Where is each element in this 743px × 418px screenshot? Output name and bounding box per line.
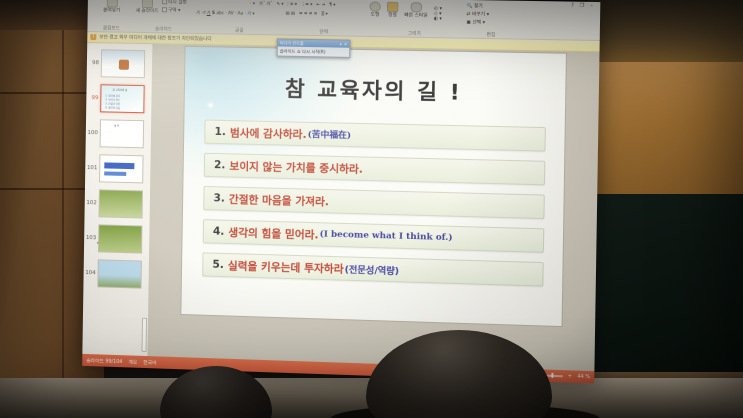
select-command[interactable]: ▣ 선택 ▾ — [466, 19, 516, 26]
wooden-cabinet — [596, 62, 743, 194]
bullet-text: 보이지 않는 가치를 중시하라. — [229, 158, 363, 176]
lecture-room-scene: 붙여넣기 클립보드 새 슬라이드 다시 설정 구역 ▾ — [0, 0, 743, 418]
warning-icon: ! — [90, 34, 96, 40]
clipboard-group-label: 클립보드 — [91, 25, 131, 32]
bullet-number: 5. — [212, 259, 224, 271]
thumbnail-preview[interactable] — [98, 224, 143, 253]
status-language[interactable]: 한국어 — [143, 358, 156, 365]
thumbnail-number: 99 — [87, 95, 98, 101]
reset-label[interactable]: 다시 설정 — [162, 0, 187, 6]
thumbnail-row[interactable]: 104 — [83, 255, 149, 292]
slides-group-label: 슬라이드 — [135, 26, 191, 33]
new-slide-icon[interactable] — [142, 0, 153, 8]
animation-star-icon: ✶ — [96, 240, 99, 245]
workspace: 98 99 참 교육자의 길 1. 범사에 감사 2. 보이지 않는 3. 간절… — [82, 43, 599, 371]
bullet-item[interactable]: 1. 범사에 감사하라. (苦中福在) — [204, 120, 546, 152]
shapes-icon[interactable] — [369, 1, 380, 11]
bullet-subtext: (전문성/역량) — [345, 262, 400, 277]
arrange-label[interactable]: 정렬 — [387, 12, 398, 18]
zoom-level[interactable]: 44 % — [577, 374, 590, 380]
ribbon-group-paragraph: ⋮≡ ▾ ⋮≡ ▾ ⇤ ⇥ ¶ ▾ ▤ ▤ ≡ ≡ ≡ ≡ ⫿⫿ ▾ 단락 — [285, 0, 363, 36]
thumbnail-preview[interactable] — [97, 259, 142, 288]
decorative-sparkle — [209, 104, 212, 107]
section-label[interactable]: 구역 ▾ — [161, 7, 186, 13]
bullet-number: 1. — [214, 126, 226, 138]
float-window-title: 미디어 컨트롤 — [280, 40, 338, 47]
current-slide[interactable]: 참 교육자의 길 ! 1. 범사에 감사하라. (苦中福在) 2. 보이지 않는… — [180, 46, 567, 327]
shape-effects-icon[interactable]: ◐ ▾ — [434, 17, 442, 22]
new-slide-label[interactable]: 새 슬라이드 — [136, 8, 159, 14]
thumbnail-row[interactable]: 99 참 교육자의 길 1. 범사에 감사 2. 보이지 않는 3. 간절한 마… — [86, 80, 152, 116]
thumbnail-number: 102 — [86, 199, 97, 205]
quick-styles-icon[interactable] — [410, 2, 422, 12]
slide-edit-area[interactable]: 참 교육자의 길 ! 1. 범사에 감사하라. (苦中福在) 2. 보이지 않는… — [148, 44, 599, 371]
thumbnail-number: 103 — [85, 234, 96, 240]
thumbnail-number: 104 — [85, 269, 96, 275]
ribbon-group-drawing: 도형 정렬 빠른 스타일 ◴ ▾ ◇ ▾ ◐ — [367, 0, 463, 38]
ceiling-beam-right — [588, 0, 743, 62]
projection-screen: 붙여넣기 클립보드 새 슬라이드 다시 설정 구역 ▾ — [82, 0, 600, 384]
thumbnail-number: 101 — [86, 164, 97, 170]
bullet-subtext: (苦中福在) — [308, 128, 352, 141]
reset-icon — [162, 0, 167, 4]
bullet-text: 실력을 키우는데 투자하라 — [228, 258, 344, 277]
bullet-text: 간절한 마음을 가져라. — [229, 191, 329, 209]
powerpoint-window: 붙여넣기 클립보드 새 슬라이드 다시 설정 구역 ▾ — [82, 0, 600, 384]
quick-styles-label[interactable]: 빠른 스타일 — [404, 12, 427, 18]
thumbnail-scrollbar[interactable] — [141, 318, 147, 352]
thumbnail-row[interactable]: 102 — [84, 185, 150, 222]
thumbnail-preview-selected[interactable]: 참 교육자의 길 1. 범사에 감사 2. 보이지 않는 3. 간절한 마음 4… — [100, 84, 145, 113]
thumbnail-row[interactable]: 101 — [85, 150, 151, 187]
chevron-down-icon[interactable]: ▾ — [340, 42, 342, 47]
paste-label[interactable]: 붙여넣기 — [92, 7, 132, 14]
thumbnail-row[interactable]: 103 ✶ — [84, 220, 150, 257]
font-style-row[interactable]: 가 가 가 S abc · AV · Aa · 가 ▾ — [196, 10, 283, 17]
thumbnail-preview[interactable] — [101, 49, 146, 78]
bullet-text: 범사에 감사하라. — [230, 125, 307, 142]
bullet-item[interactable]: 2. 보이지 않는 가치를 중시하라. — [204, 153, 546, 186]
bullet-number: 4. — [213, 225, 225, 237]
ribbon-group-slides: 새 슬라이드 다시 설정 구역 ▾ 슬라이드 — [135, 0, 192, 33]
list-row[interactable]: ⋮≡ ▾ ⋮≡ ▾ ⇤ ⇥ ¶ ▾ — [286, 0, 364, 7]
find-command[interactable]: 🔍 찾기 — [467, 3, 517, 10]
ribbon-group-editing: 🔍 찾기 ⇄ 바꾸기 ▾ ▣ 선택 ▾ 편집 — [466, 1, 517, 39]
bullet-item[interactable]: 3. 간절한 마음을 가져라. — [203, 186, 545, 219]
font-size-row[interactable]: · ▾ 가ˇ 가ˇ ✎ ▾ — [196, 0, 283, 7]
restart-slideshow-button[interactable]: 슬라이드 쇼 다시 시작(R) — [278, 46, 350, 56]
thumbnail-preview[interactable]: 제 목 · · · · · · · — [100, 119, 145, 148]
audience-head-left — [160, 366, 272, 418]
security-warning-text: 보안 경고 외부 미디어 개체에 대한 참조가 차단되었습니다 — [99, 34, 211, 42]
close-icon[interactable]: ✕ — [344, 42, 348, 47]
thumbnail-number: 100 — [87, 129, 98, 135]
ribbon-group-font: · ▾ 가ˇ 가ˇ ✎ ▾ 가 가 가 S abc · AV · Aa · 가 … — [196, 0, 284, 34]
slide-thumbnail-pane[interactable]: 98 99 참 교육자의 길 1. 범사에 감사 2. 보이지 않는 3. 간절… — [82, 43, 153, 356]
align-row[interactable]: ▤ ▤ ≡ ≡ ≡ ≡ ⫿⫿ ▾ — [285, 10, 363, 16]
status-slide-count: 슬라이드 99/104 — [86, 356, 122, 364]
window-controls[interactable]: ? ❐ – — [571, 3, 595, 10]
restore-icon[interactable]: ❐ — [580, 3, 587, 9]
zoom-in-button[interactable]: + — [568, 374, 572, 379]
thumbnail-number: 98 — [88, 60, 99, 66]
section-icon — [162, 7, 167, 12]
media-control-window[interactable]: 미디어 컨트롤 ▾ ✕ 슬라이드 쇼 다시 시작(R) — [277, 38, 351, 58]
thumbnail-row[interactable]: 98 — [87, 45, 153, 81]
shapes-label[interactable]: 도형 — [369, 12, 380, 18]
slide-bullet-list: 1. 범사에 감사하라. (苦中福在) 2. 보이지 않는 가치를 중시하라. … — [202, 120, 546, 296]
thumbnail-preview[interactable] — [98, 189, 143, 218]
bullet-item[interactable]: 4. 생각의 힘을 믿어라. (I become what I think of… — [203, 219, 545, 253]
zoom-slider-thumb[interactable] — [551, 373, 554, 378]
arrange-icon[interactable] — [387, 2, 398, 12]
status-theme: 개요 — [128, 358, 137, 365]
bullet-subtext: (I become what I think of.) — [320, 229, 453, 243]
thumbnail-row[interactable]: 100 제 목 · · · · · · · — [86, 115, 152, 152]
help-icon[interactable]: ? — [571, 3, 576, 9]
editing-group-label: 편집 — [466, 32, 516, 39]
bullet-number: 3. — [213, 192, 225, 204]
minimize-icon[interactable]: – — [590, 3, 595, 9]
blackboard — [588, 194, 743, 384]
thumbnail-preview[interactable] — [99, 154, 144, 183]
ribbon-group-clipboard: 붙여넣기 클립보드 — [91, 0, 132, 32]
bullet-item[interactable]: 5. 실력을 키우는데 투자하라 (전문성/역량) — [202, 252, 544, 286]
bullet-number: 2. — [214, 159, 226, 171]
bullet-text: 생각의 힘을 믿어라. — [228, 224, 318, 242]
replace-command[interactable]: ⇄ 바꾸기 ▾ — [466, 11, 516, 18]
